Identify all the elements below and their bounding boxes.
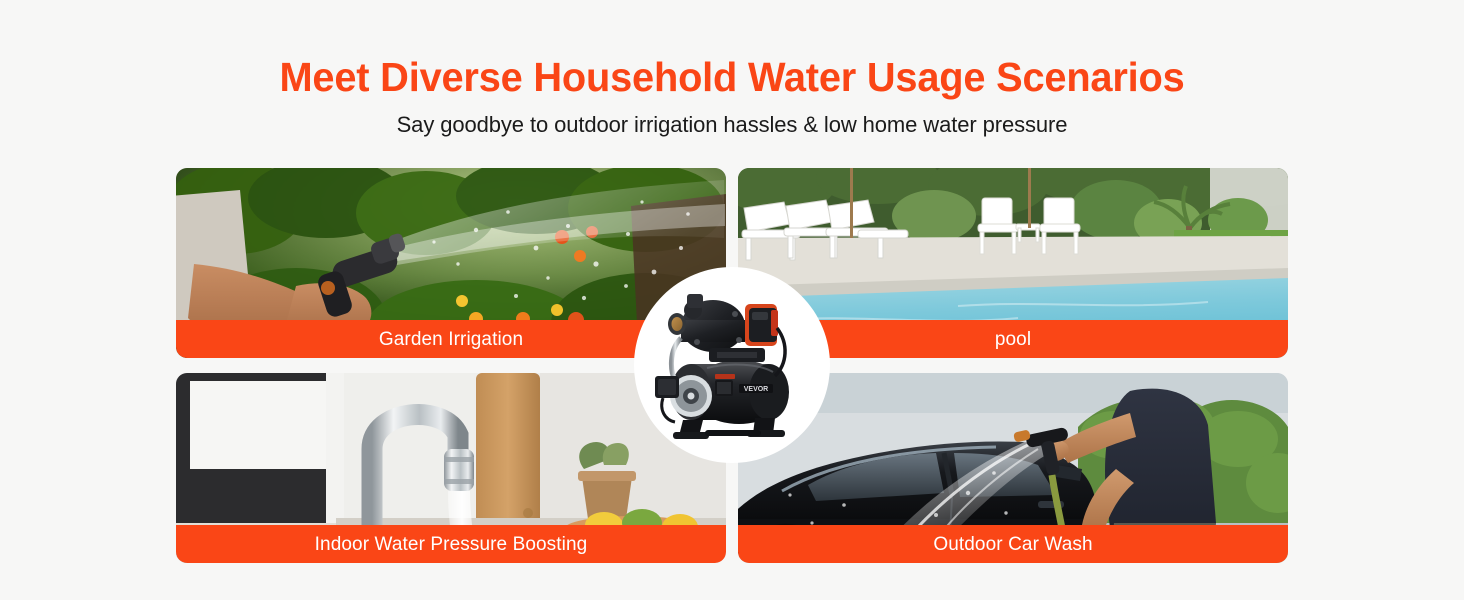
infographic-page: Meet Diverse Household Water Usage Scena… bbox=[0, 0, 1464, 600]
brand-mark: VEVOR bbox=[744, 386, 769, 393]
caption-label: Outdoor Car Wash bbox=[933, 535, 1092, 554]
page-title: Meet Diverse Household Water Usage Scena… bbox=[22, 52, 1442, 102]
caption-label: pool bbox=[995, 330, 1031, 349]
product-badge: VEVOR bbox=[634, 267, 830, 463]
page-subtitle: Say goodbye to outdoor irrigation hassle… bbox=[0, 111, 1464, 139]
caption-bar-car-wash: Outdoor Car Wash bbox=[738, 525, 1288, 563]
caption-bar-indoor-pressure: Indoor Water Pressure Boosting bbox=[176, 525, 726, 563]
caption-label: Garden Irrigation bbox=[379, 330, 523, 349]
booster-pump-image: VEVOR bbox=[647, 280, 817, 450]
header: Meet Diverse Household Water Usage Scena… bbox=[0, 0, 1464, 139]
caption-label: Indoor Water Pressure Boosting bbox=[315, 535, 588, 554]
